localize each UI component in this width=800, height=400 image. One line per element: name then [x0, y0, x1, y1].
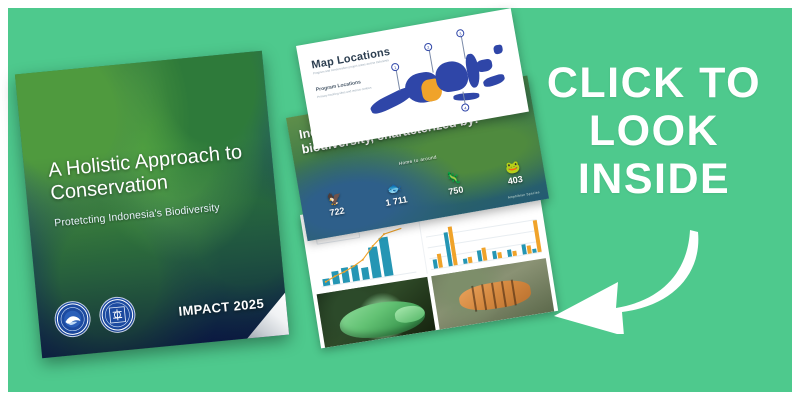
book-front-cover[interactable]: A Holistic Approach to Conservation Prot…: [15, 51, 289, 358]
cta-line-1: CLICK TO: [520, 62, 788, 106]
stat-item: 🦅 722: [314, 189, 358, 220]
map-pin[interactable]: 4: [461, 103, 470, 112]
conservation-seal-logo: [98, 295, 137, 334]
map-pin[interactable]: 1: [391, 62, 400, 71]
stat-item: 🐟 1 711: [373, 179, 417, 210]
map-pin[interactable]: 2: [424, 42, 433, 51]
map-pin[interactable]: 3: [456, 29, 465, 38]
click-to-look-inside-cta[interactable]: CLICK TO LOOK INSIDE: [520, 62, 788, 362]
cta-line-3: INSIDE: [520, 158, 788, 202]
promo-banner: New Species Found Annual discoveries: [0, 0, 800, 400]
international-animal-rescue-logo: [53, 299, 92, 338]
curved-arrow-left-icon: [538, 224, 718, 334]
stat-item: 🦎 750: [433, 168, 477, 199]
cta-line-2: LOOK: [520, 110, 788, 154]
book-preview-deck[interactable]: New Species Found Annual discoveries: [0, 0, 560, 400]
